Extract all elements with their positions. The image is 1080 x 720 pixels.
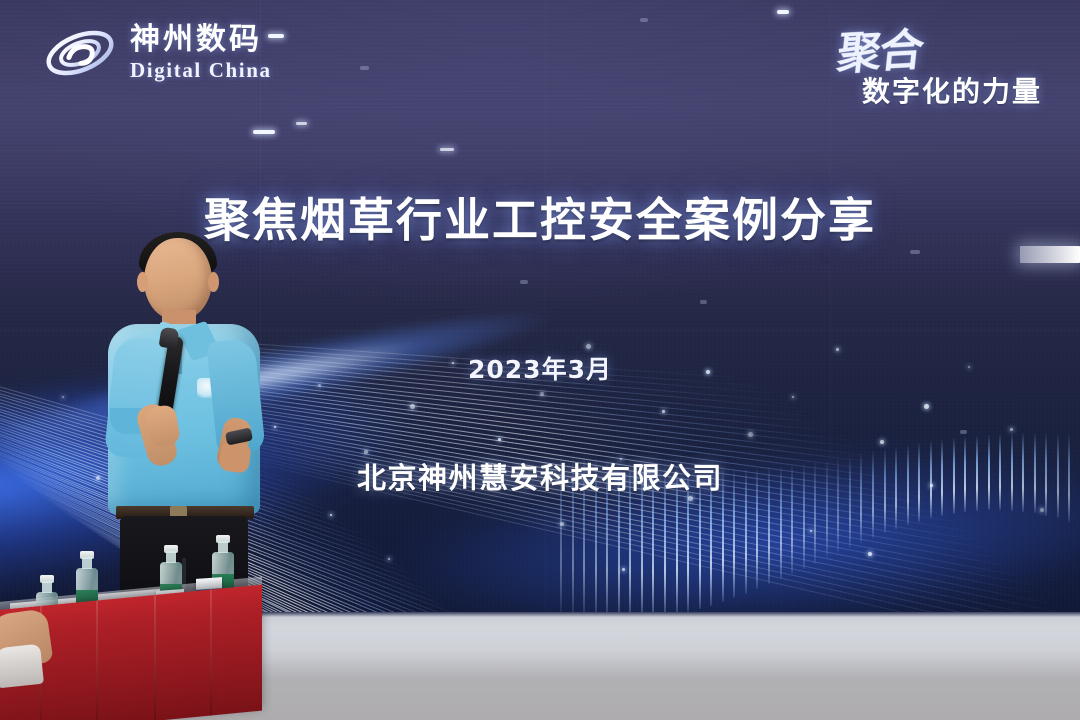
wave-particle — [1010, 428, 1013, 431]
light-particle — [520, 280, 528, 284]
cloth-fold — [210, 589, 212, 715]
brand-english-name: Digital China — [130, 60, 272, 81]
bottle-neck — [82, 557, 92, 569]
light-particle — [777, 10, 789, 14]
light-particle — [440, 148, 454, 151]
wave-particle — [622, 568, 625, 571]
wave-particle — [560, 522, 564, 526]
wave-particle — [274, 426, 276, 428]
screenshot-canvas: 聚焦烟草行业工控安全案例分享 2023年3月 北京神州慧安科技有限公司 神州数码… — [0, 0, 1080, 720]
wave-particle — [1040, 508, 1044, 512]
wave-particle — [364, 450, 368, 454]
digital-china-spiral-icon — [44, 22, 116, 84]
cloth-fold — [96, 600, 98, 720]
wave-particle — [62, 396, 64, 398]
speaker-head — [144, 238, 212, 320]
wave-particle — [792, 396, 794, 398]
wave-particle — [662, 410, 665, 413]
wave-particle — [924, 404, 929, 409]
light-particle — [296, 122, 307, 125]
bottle-neck — [42, 581, 52, 593]
wave-particle — [810, 530, 812, 532]
bottle-neck — [218, 541, 228, 553]
wave-particle — [586, 344, 591, 349]
wave-particle — [498, 438, 501, 441]
wave-particle — [410, 404, 415, 409]
wave-particle — [330, 514, 332, 516]
cloth-fold — [154, 595, 156, 720]
digital-china-logo: 神州数码 Digital China — [44, 22, 272, 84]
wave-particle — [868, 552, 872, 556]
light-particle — [253, 130, 275, 134]
light-particle — [910, 250, 920, 254]
wave-particle — [748, 432, 753, 437]
speaker-ear-left — [137, 272, 148, 292]
wave-particle — [540, 392, 544, 396]
event-tagline: 数字化的力量 — [862, 70, 1042, 110]
microphone-head-icon — [159, 327, 180, 350]
speaker-ear-right — [208, 272, 219, 292]
brand-chinese-name: 神州数码 — [130, 25, 272, 55]
speaker-figure — [96, 228, 272, 620]
light-particle — [360, 66, 369, 70]
speaker-hand-right — [218, 440, 252, 474]
attendee-papers — [0, 644, 44, 689]
wave-particle — [880, 440, 884, 444]
panel-seam — [0, 150, 1080, 151]
bottle-neck — [166, 551, 176, 563]
digital-china-wordmark: 神州数码 Digital China — [130, 25, 272, 81]
light-particle — [640, 18, 648, 22]
wave-particle — [388, 558, 390, 560]
event-logo: 聚合 数字化的力量 — [806, 16, 1056, 112]
